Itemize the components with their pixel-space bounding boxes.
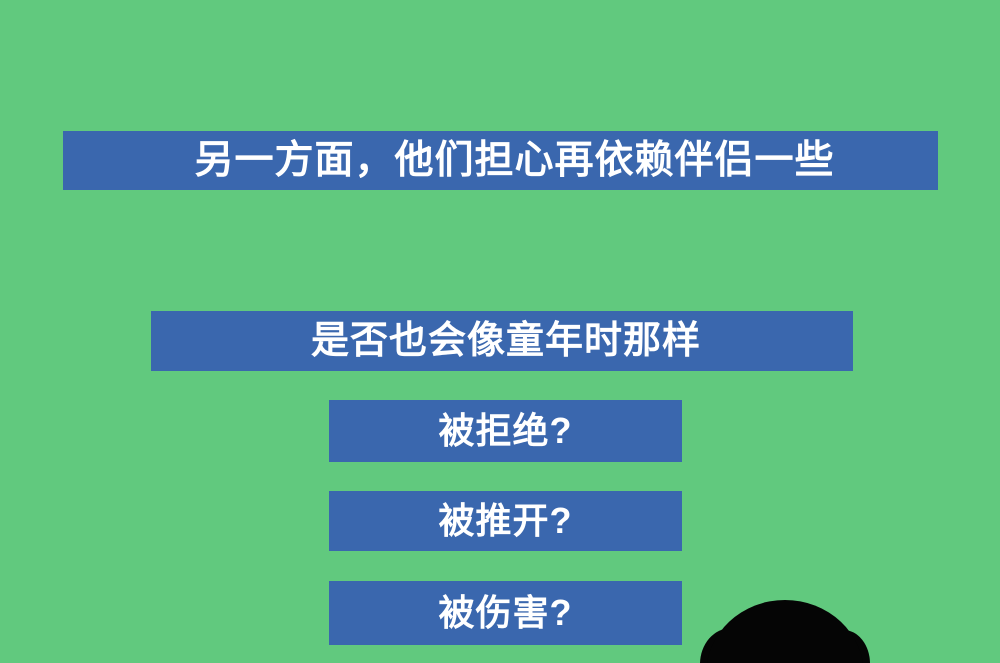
caption-banner-2: 是否也会像童年时那样 — [151, 311, 853, 371]
caption-text-5: 被伤害? — [439, 595, 573, 631]
caption-text-1: 另一方面，他们担心再依赖伴侣一些 — [166, 141, 834, 180]
caption-banner-3: 被拒绝? — [329, 400, 682, 462]
caption-banner-1: 另一方面，他们担心再依赖伴侣一些 — [63, 131, 938, 190]
caption-text-4: 被推开? — [439, 503, 573, 539]
caption-text-3: 被拒绝? — [439, 413, 573, 449]
caption-banner-4: 被推开? — [329, 491, 682, 551]
person-head-silhouette — [706, 600, 864, 663]
slide-canvas: 另一方面，他们担心再依赖伴侣一些 是否也会像童年时那样 被拒绝? 被推开? 被伤… — [0, 0, 1000, 663]
caption-banner-5: 被伤害? — [329, 581, 682, 645]
caption-text-2: 是否也会像童年时那样 — [303, 322, 701, 360]
